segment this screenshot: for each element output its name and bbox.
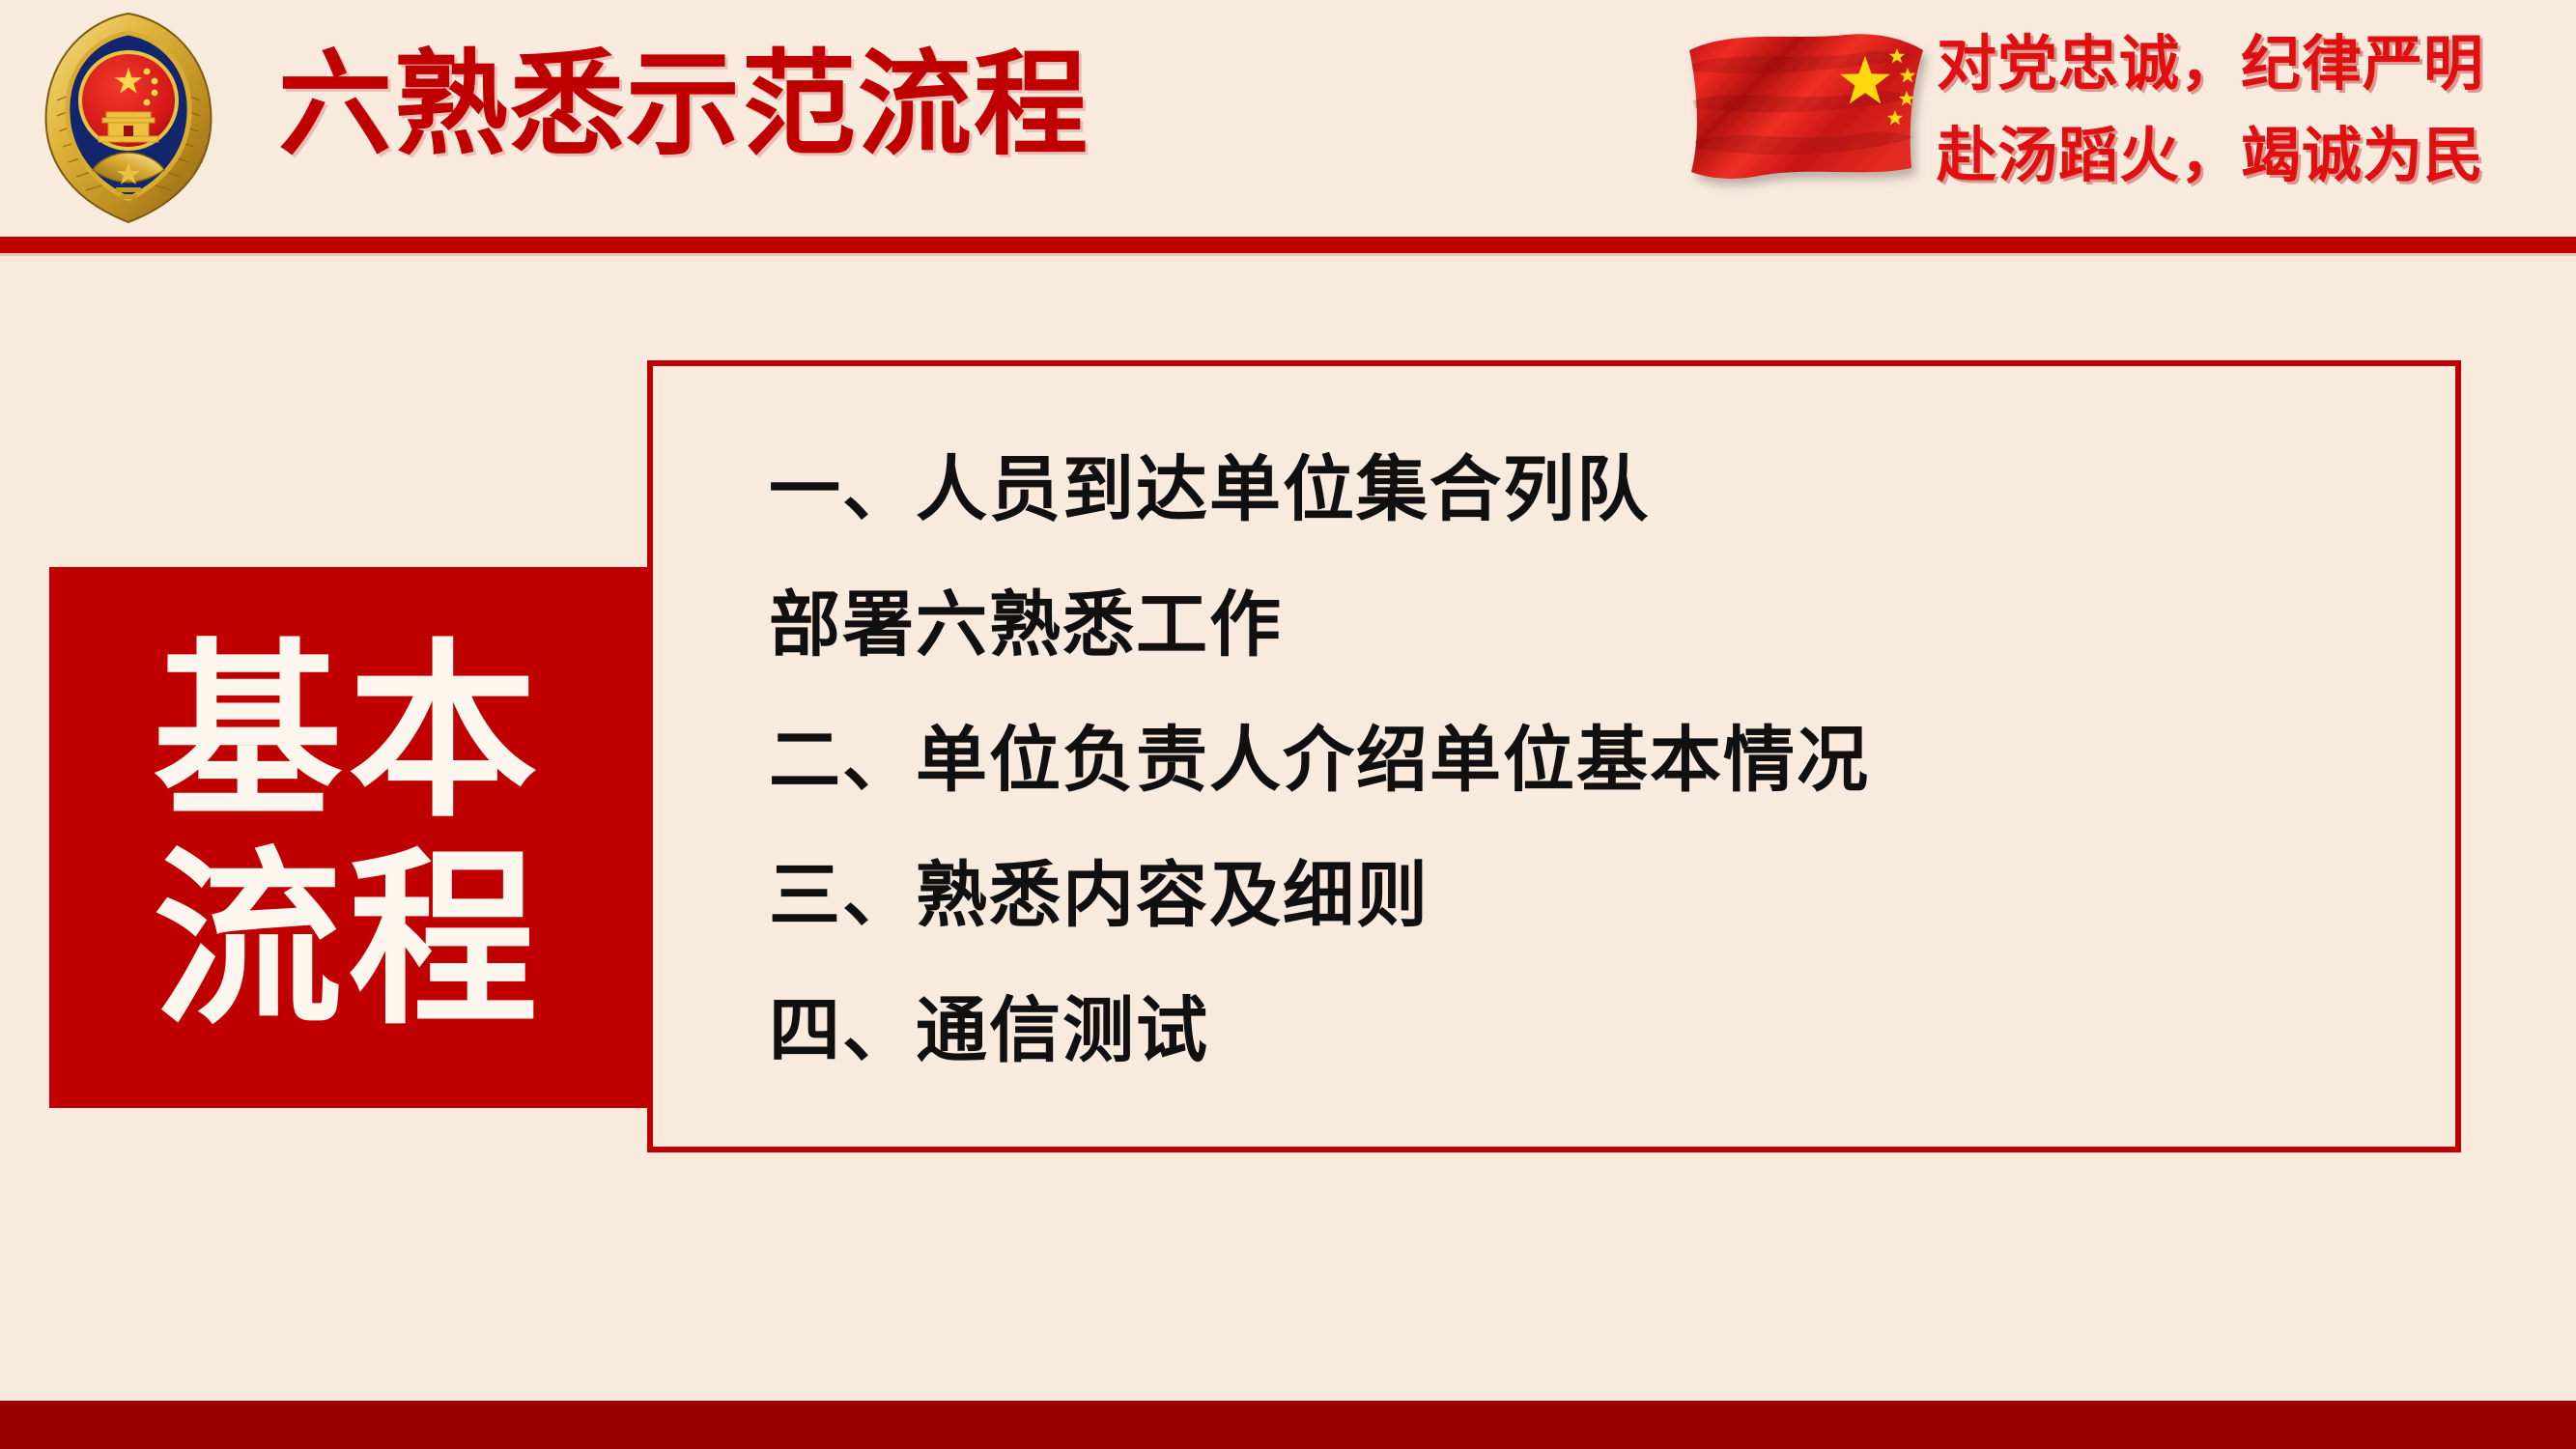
list-item: 一、人员到达单位集合列队	[769, 422, 2417, 557]
footer-bar	[0, 1401, 2576, 1449]
page-title: 六熟悉示范流程	[278, 27, 1437, 182]
china-national-flag-icon	[1676, 21, 1935, 200]
list-item: 三、熟悉内容及细则	[769, 828, 2417, 963]
list-item: 二、单位负责人介绍单位基本情况	[769, 693, 2417, 828]
slogan-line-1: 对党忠诚，纪律严明	[1937, 17, 2564, 109]
list-item: 部署六熟悉工作	[769, 557, 2417, 693]
process-step-list: 一、人员到达单位集合列队 部署六熟悉工作 二、单位负责人介绍单位基本情况 三、熟…	[769, 422, 2417, 1098]
section-label-line-2: 流程	[153, 838, 543, 1045]
section-label-chip: 基本 流程	[49, 567, 647, 1108]
slide-root: 六熟悉示范流程	[0, 0, 2576, 1449]
slogan-line-2: 赴汤蹈火，竭诚为民	[1937, 109, 2564, 201]
slide-header: 六熟悉示范流程	[0, 0, 2576, 237]
content-panel: 一、人员到达单位集合列队 部署六熟悉工作 二、单位负责人介绍单位基本情况 三、熟…	[647, 360, 2461, 1152]
police-badge-emblem-icon	[27, 8, 230, 228]
list-item: 四、通信测试	[769, 963, 2417, 1098]
header-divider-rule	[0, 237, 2576, 253]
slogan-block: 对党忠诚，纪律严明 赴汤蹈火，竭诚为民	[1937, 17, 2564, 211]
header-divider-accent	[0, 253, 2576, 256]
section-label-line-1: 基本	[153, 630, 543, 838]
